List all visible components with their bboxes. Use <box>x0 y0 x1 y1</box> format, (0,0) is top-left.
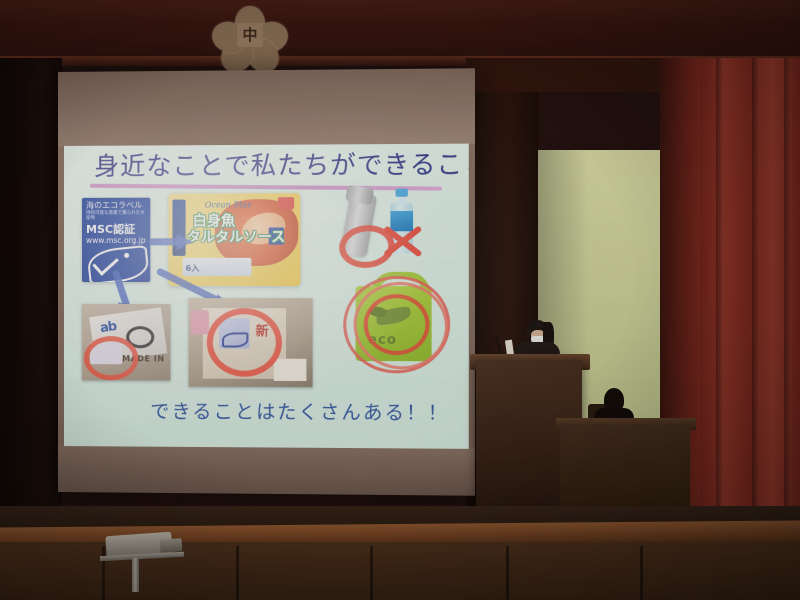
product-photo-middle: 新 <box>189 298 313 387</box>
apron-seam <box>236 546 239 600</box>
sakura-emblem: 中 <box>215 6 285 64</box>
auditorium-photo: 中 身近なことで私たちができること 海のエコラベル 持続可能な漁業で獲られた水産… <box>0 0 800 600</box>
side-desk <box>560 424 690 506</box>
arrowhead-right <box>177 234 193 250</box>
stage-light-fixture <box>100 534 184 564</box>
stage-valance <box>0 0 800 62</box>
apron-seam <box>506 546 509 600</box>
presentation-slide: 身近なことで私たちができること 海のエコラベル 持続可能な漁業で獲られた水産物 … <box>64 144 469 449</box>
projection-screen: 身近なことで私たちができること 海のエコラベル 持続可能な漁業で獲られた水産物 … <box>58 68 475 495</box>
bottle-cap <box>396 189 408 197</box>
red-cross-mark <box>380 219 425 264</box>
apron-seam <box>640 546 643 600</box>
fixture-snoot <box>160 538 183 553</box>
red-scribble-inner <box>364 294 430 355</box>
arrow-msc-to-photoA <box>116 274 126 304</box>
photo-left-brand: ab <box>99 319 117 336</box>
slide-caption: できることはたくさんある！！ <box>150 396 449 425</box>
fixture-stand <box>132 558 139 592</box>
apron-seam <box>370 546 373 600</box>
center-black-leg <box>466 58 538 358</box>
screen-top-band <box>58 68 475 146</box>
photo-middle-pink-item <box>191 310 209 334</box>
photo-middle-red-circle <box>207 308 282 377</box>
screen-bottom-band <box>58 446 475 496</box>
curtain-fold <box>784 58 792 528</box>
photo-middle-price-tag <box>274 359 307 381</box>
curtain-fold <box>716 58 724 528</box>
product-photo-left: ab MADE IN <box>82 304 170 380</box>
photo-left-red-circle <box>84 336 138 380</box>
curtain-fold <box>752 58 760 528</box>
emblem-kanji: 中 <box>237 23 263 47</box>
